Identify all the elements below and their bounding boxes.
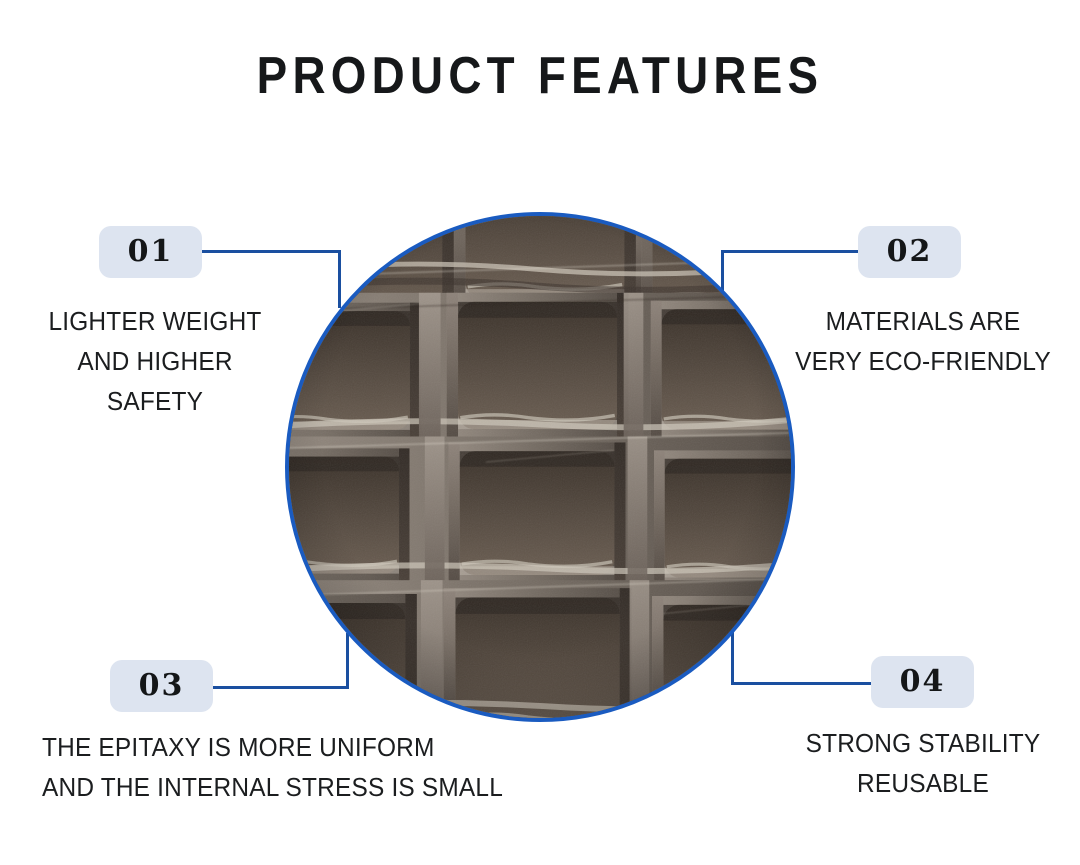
connector-02-horizontal [721,250,861,253]
feature-badge-01[interactable]: 01 [99,226,202,278]
connector-03-horizontal [213,686,349,689]
feature-badge-03-number: 03 [139,671,185,701]
feature-badge-04-number: 04 [900,667,946,697]
feature-01-line-3: SAFETY [29,381,281,421]
feature-text-01: LIGHTER WEIGHT AND HIGHER SAFETY [29,301,281,421]
feature-badge-02-number: 02 [887,237,933,267]
connector-line-03 [213,633,349,689]
feature-badge-04[interactable]: 04 [871,656,974,708]
connector-01-horizontal [198,250,341,253]
steel-u-channel-profiles-photo [289,216,791,718]
feature-02-line-1: MATERIALS ARE [787,301,1060,341]
connector-line-04 [731,625,877,685]
connector-line-01 [198,250,341,308]
feature-badge-02[interactable]: 02 [858,226,961,278]
feature-02-line-2: VERY ECO-FRIENDLY [787,341,1060,381]
feature-badge-03[interactable]: 03 [110,660,213,712]
connector-line-02 [721,250,861,308]
feature-text-03: THE EPITAXY IS MORE UNIFORM AND THE INTE… [42,727,531,807]
feature-text-02: MATERIALS ARE VERY ECO-FRIENDLY [787,301,1060,381]
connector-04-horizontal [731,682,877,685]
product-photo-circle [285,212,795,722]
feature-badge-01-number: 01 [128,237,174,267]
infographic-canvas: PRODUCT FEATURES [0,0,1080,865]
feature-text-04: STRONG STABILITY REUSABLE [787,723,1060,803]
feature-01-line-2: AND HIGHER [29,341,281,381]
connector-03-vertical [346,633,349,689]
connector-01-vertical [338,250,341,308]
feature-03-line-1: THE EPITAXY IS MORE UNIFORM [42,727,531,767]
page-title: PRODUCT FEATURES [65,46,1015,106]
feature-03-line-2: AND THE INTERNAL STRESS IS SMALL [42,767,531,807]
feature-04-line-1: STRONG STABILITY [787,723,1060,763]
feature-01-line-1: LIGHTER WEIGHT [29,301,281,341]
feature-04-line-2: REUSABLE [787,763,1060,803]
